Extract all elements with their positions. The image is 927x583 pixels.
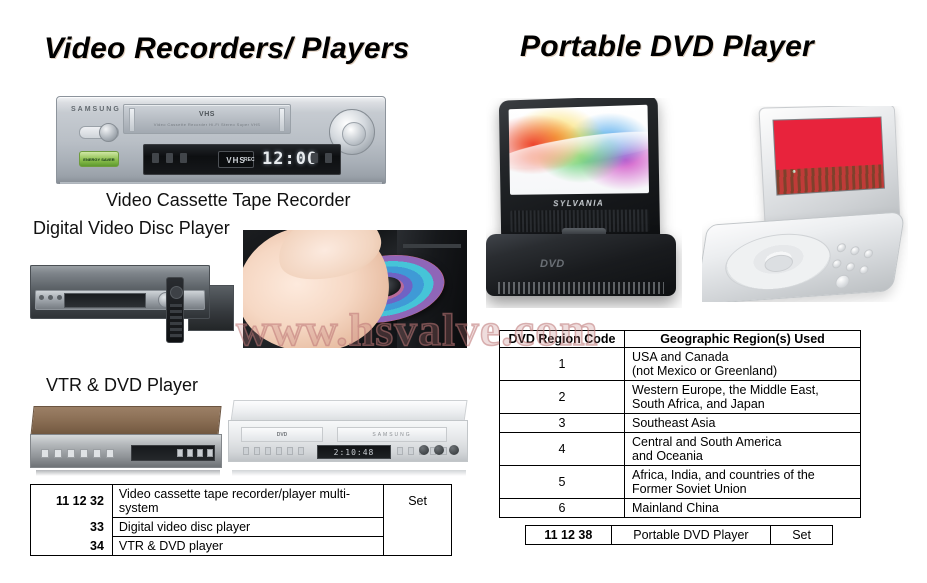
combo2-button-row-left (243, 447, 304, 455)
header-geographic-region: Geographic Region(s) Used (625, 331, 861, 348)
table-row: 11 12 38 Portable DVD Player Set (526, 526, 833, 545)
photo-vtr-dvd-combo-silver: DVD SAMSUNG 2:10:48 (228, 398, 473, 478)
header-dvd-region-code: DVD Region Code (500, 331, 625, 348)
region-description-cell: Central and South America and Oceania (625, 433, 861, 466)
combo1-front-panel (30, 434, 222, 468)
region-code-cell: 3 (500, 414, 625, 433)
table-dvd-region-codes: DVD Region Code Geographic Region(s) Use… (499, 330, 861, 518)
region-code-cell: 1 (500, 348, 625, 381)
portable-black-base: DVD (486, 234, 676, 296)
portable-silver-control-buttons (826, 240, 886, 292)
dvd-deck-buttons (39, 295, 62, 300)
page-root: Video Recorders/ Players Portable DVD Pl… (0, 0, 927, 583)
region-description-cell: Western Europe, the Middle East, South A… (625, 381, 861, 414)
photo-portable-dvd-player-black: SYLVANIA DVD (486, 98, 682, 308)
row-description: Portable DVD Player (611, 526, 770, 545)
vcr-button-group-right (311, 153, 332, 163)
region-description-cell: Southeast Asia (625, 414, 861, 433)
combo2-shadow (232, 470, 466, 476)
vcr-clock-display: 12:00 (262, 149, 318, 169)
table-portable-dvd-commodity: 11 12 38 Portable DVD Player Set (525, 525, 833, 545)
combo2-dvd-tray: DVD (241, 427, 323, 442)
photo-hand-inserting-dvd-disc (243, 230, 467, 348)
table-header-row: DVD Region Code Geographic Region(s) Use… (500, 331, 861, 348)
portable-black-lid: SYLVANIA (499, 98, 660, 244)
row-code: 11 12 38 (526, 526, 612, 545)
portable-black-vents (498, 282, 664, 294)
vcr-slot-logo: VHS (199, 111, 215, 118)
photo-digital-video-disc-player (30, 245, 236, 343)
combo1-top-cover (30, 406, 221, 436)
photo-video-cassette-recorder: SAMSUNG VHS Video Cassette Recorder Hi-F… (56, 96, 386, 184)
table-row: 2Western Europe, the Middle East, South … (500, 381, 861, 414)
vcr-base-foot (59, 182, 383, 184)
region-code-cell: 6 (500, 499, 625, 518)
photo-portable-dvd-player-silver (702, 106, 908, 302)
portable-black-dvd-logo: DVD (540, 258, 565, 270)
region-code-cell: 4 (500, 433, 625, 466)
vcr-energy-badge: ENERGY SAVER (79, 151, 119, 167)
table-row: 6Mainland China (500, 499, 861, 518)
combo1-button-row-right (177, 449, 213, 457)
region-description-cell: USA and Canada (not Mexico or Greenland) (625, 348, 861, 381)
row-unit (384, 537, 452, 556)
combo1-shadow (36, 470, 220, 476)
table-row: 33 Digital video disc player (31, 518, 452, 537)
caption-digital-video-disc-player: Digital Video Disc Player (33, 218, 230, 239)
vcr-front-panel: VHS REC 12:00 (143, 144, 341, 175)
row-unit: Set (771, 526, 833, 545)
row-unit (384, 518, 452, 537)
region-code-cell: 5 (500, 466, 625, 499)
vcr-rec-indicator: REC (244, 157, 255, 163)
row-unit: Set (384, 485, 452, 518)
row-code: 34 (31, 537, 113, 556)
vcr-slot-subtext: Video Cassette Recorder Hi-Fi Stereo Sup… (154, 122, 261, 127)
vcr-chassis: SAMSUNG VHS Video Cassette Recorder Hi-F… (56, 96, 386, 184)
combo1-button-row (41, 449, 114, 458)
combo2-av-jacks (419, 445, 459, 455)
region-code-cell: 2 (500, 381, 625, 414)
row-description: Digital video disc player (112, 518, 383, 537)
combo2-vcr-slot: SAMSUNG (337, 427, 447, 442)
vcr-rotary-dial (99, 123, 118, 142)
portable-black-brand-label: SYLVANIA (501, 198, 660, 209)
table-row: 3Southeast Asia (500, 414, 861, 433)
table-video-recorders-commodity: 11 12 32 Video cassette tape recorder/pl… (30, 484, 452, 556)
caption-vtr-dvd-player: VTR & DVD Player (46, 375, 198, 396)
table-row: 11 12 32 Video cassette tape recorder/pl… (31, 485, 452, 518)
table-row: 34 VTR & DVD player (31, 537, 452, 556)
row-code: 33 (31, 518, 113, 537)
table-row: 4Central and South America and Oceania (500, 433, 861, 466)
portable-silver-screen-tulips (772, 116, 885, 195)
page-title-video-recorders: Video Recorders/ Players (44, 32, 410, 66)
page-title-portable-dvd: Portable DVD Player (520, 30, 814, 64)
combo2-front-panel: DVD SAMSUNG 2:10:48 (228, 420, 468, 462)
region-description-cell: Africa, India, and countries of the Form… (625, 466, 861, 499)
caption-video-cassette-tape-recorder: Video Cassette Tape Recorder (106, 190, 351, 211)
vcr-button-group-left (152, 153, 187, 163)
dvd-deck-disc-tray (64, 293, 146, 308)
row-code: 11 12 32 (31, 485, 113, 518)
vcr-brand-label: SAMSUNG (71, 106, 121, 113)
row-description: VTR & DVD player (112, 537, 383, 556)
photo-vtr-dvd-combo-brown (30, 404, 226, 476)
vcr-cassette-slot: VHS Video Cassette Recorder Hi-Fi Stereo… (123, 104, 291, 134)
portable-black-screen (509, 105, 649, 195)
dvd-remote-control (166, 277, 184, 343)
row-description: Video cassette tape recorder/player mult… (112, 485, 383, 518)
disc-player-slot (403, 244, 461, 248)
region-description-cell: Mainland China (625, 499, 861, 518)
combo2-display: 2:10:48 (317, 445, 391, 459)
combo2-top-cover (230, 400, 467, 422)
table-row: 1USA and Canada (not Mexico or Greenland… (500, 348, 861, 381)
table-row: 5Africa, India, and countries of the For… (500, 466, 861, 499)
